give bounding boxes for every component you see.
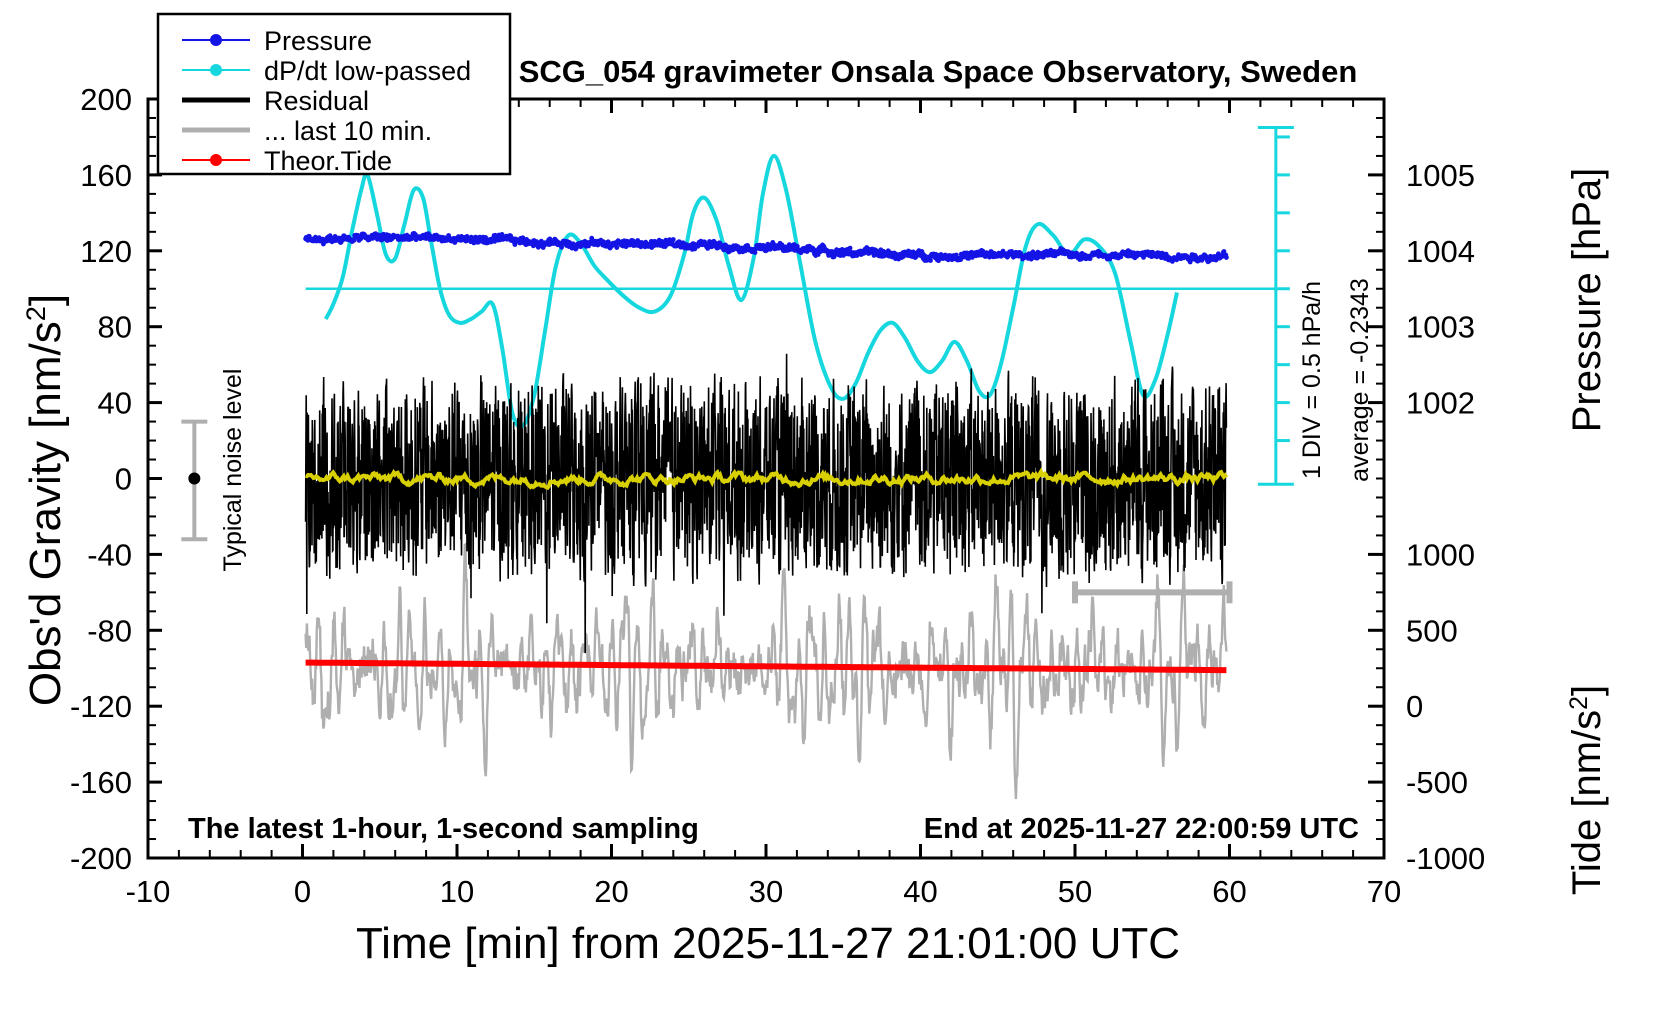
pressure-point bbox=[614, 245, 619, 250]
y-tick-label: 120 bbox=[80, 234, 132, 269]
chart-page: -1001020304050607020016012080400-40-80-1… bbox=[0, 0, 1660, 1020]
pressure-point bbox=[671, 237, 676, 242]
x-tick-label: 70 bbox=[1367, 874, 1401, 909]
x-tick-label: 50 bbox=[1058, 874, 1092, 909]
noise-center-dot bbox=[188, 473, 200, 485]
pressure-point bbox=[928, 258, 933, 263]
left-axis-title: Obs'd Gravity [nm/s2] bbox=[20, 294, 71, 706]
pressure-tick-label: 1004 bbox=[1406, 234, 1475, 269]
dpdt-div-note: 1 DIV = 0.5 hPa/h bbox=[1298, 281, 1326, 479]
legend-item-label: dP/dt low-passed bbox=[264, 56, 471, 86]
dpdt-scale-axis bbox=[1258, 127, 1294, 484]
pressure-tick-label: 1003 bbox=[1406, 310, 1475, 345]
y-tick-label: 80 bbox=[98, 310, 132, 345]
footer-right-note: End at 2025-11-27 22:00:59 UTC bbox=[924, 813, 1359, 845]
y-tick-label: -200 bbox=[70, 841, 132, 876]
last-10-min-scale-bar bbox=[1075, 581, 1230, 603]
y-tick-label: 40 bbox=[98, 386, 132, 421]
legend-item-label: ... last 10 min. bbox=[264, 116, 432, 146]
y-tick-label: 160 bbox=[80, 158, 132, 193]
legend: PressuredP/dt low-passedResidual... last… bbox=[158, 14, 510, 176]
series-residual bbox=[306, 354, 1227, 653]
x-tick-label: 30 bbox=[749, 874, 783, 909]
legend-item-label: Residual bbox=[264, 86, 369, 116]
series-pressure bbox=[303, 231, 1229, 264]
tide-tick-label: 1000 bbox=[1406, 537, 1475, 572]
typical-noise-level bbox=[181, 422, 207, 540]
legend-item-label: Theor.Tide bbox=[264, 146, 392, 176]
x-tick-label: 0 bbox=[294, 874, 311, 909]
gravimeter-chart-svg: -1001020304050607020016012080400-40-80-1… bbox=[0, 0, 1660, 1020]
bottom-axis-title: Time [min] from 2025-11-27 21:01:00 UTC bbox=[356, 919, 1180, 968]
pressure-point bbox=[1224, 255, 1229, 260]
legend-swatch-dot bbox=[210, 34, 222, 46]
legend-swatch-dot bbox=[210, 64, 222, 76]
noise-level-label: Typical noise level bbox=[219, 369, 247, 572]
pressure-tick-label: 1005 bbox=[1406, 158, 1475, 193]
pressure-tick-label: 1002 bbox=[1406, 386, 1475, 421]
x-tick-label: 10 bbox=[440, 874, 474, 909]
residual-trace bbox=[306, 354, 1227, 653]
tide-tick-label: 500 bbox=[1406, 613, 1458, 648]
y-tick-label: -160 bbox=[70, 765, 132, 800]
y-tick-label: -120 bbox=[70, 689, 132, 724]
y-tick-label: -40 bbox=[87, 537, 132, 572]
dpdt-average-note: average = -0.2343 bbox=[1346, 278, 1374, 482]
tide-tick-label: 0 bbox=[1406, 689, 1423, 724]
legend-swatch-dot bbox=[210, 154, 222, 166]
right-tide-axis-title: Tide [nm/s2] bbox=[1565, 685, 1609, 895]
chart-title: SCG_054 gravimeter Onsala Space Observat… bbox=[519, 54, 1358, 89]
x-tick-label: 20 bbox=[594, 874, 628, 909]
x-tick-label: 40 bbox=[903, 874, 937, 909]
y-tick-label: 200 bbox=[80, 82, 132, 117]
tide-tick-label: -500 bbox=[1406, 765, 1468, 800]
y-tick-label: -80 bbox=[87, 613, 132, 648]
tide-tick-label: -1000 bbox=[1406, 841, 1485, 876]
footer-left-note: The latest 1-hour, 1-second sampling bbox=[188, 813, 699, 845]
series-dpdt bbox=[306, 156, 1276, 427]
y-tick-label: 0 bbox=[115, 462, 132, 497]
dpdt-trace bbox=[326, 156, 1177, 427]
x-tick-label: -10 bbox=[126, 874, 171, 909]
legend-item-label: Pressure bbox=[264, 26, 372, 56]
x-tick-label: 60 bbox=[1212, 874, 1246, 909]
right-pressure-axis-title: Pressure [hPa] bbox=[1565, 168, 1609, 433]
pressure-point bbox=[848, 246, 853, 251]
